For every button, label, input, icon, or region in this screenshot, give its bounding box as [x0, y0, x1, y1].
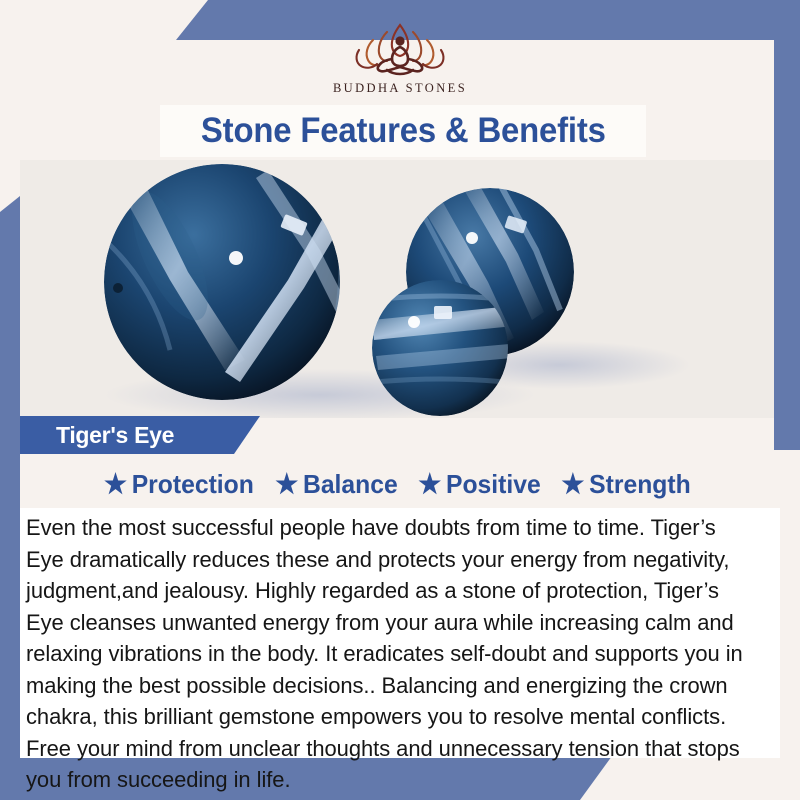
benefit-label: Positive — [446, 469, 541, 500]
benefit-item-positive: ★ Positive — [418, 469, 540, 500]
star-icon: ★ — [104, 471, 127, 498]
description-panel: Even the most successful people have dou… — [20, 508, 780, 758]
brand-name: BUDDHA STONES — [333, 81, 467, 96]
benefit-item-balance: ★ Balance — [275, 469, 398, 500]
benefit-label: Protection — [132, 469, 254, 500]
stone-name-ribbon: Tiger's Eye — [20, 416, 260, 454]
brand-logo: BUDDHA STONES — [0, 18, 800, 106]
star-icon: ★ — [561, 471, 584, 498]
frame-left-accent — [0, 196, 20, 800]
star-icon: ★ — [418, 471, 441, 498]
description-text: Even the most successful people have dou… — [26, 512, 755, 796]
blue-tigers-eye-spheres-illustration — [20, 160, 774, 418]
benefits-row: ★ Protection ★ Balance ★ Positive ★ Stre… — [20, 462, 774, 506]
title-banner: Stone Features & Benefits — [160, 105, 646, 157]
stone-name-label: Tiger's Eye — [56, 422, 174, 449]
page-title: Stone Features & Benefits — [201, 111, 606, 151]
star-icon: ★ — [275, 471, 298, 498]
benefit-label: Strength — [589, 469, 691, 500]
benefit-item-protection: ★ Protection — [104, 469, 254, 500]
lotus-meditation-icon — [325, 18, 475, 80]
benefit-item-strength: ★ Strength — [561, 469, 690, 500]
benefit-label: Balance — [303, 469, 398, 500]
infographic-page: BUDDHA STONES Stone Features & Benefits — [0, 0, 800, 800]
hero-image — [20, 160, 774, 418]
